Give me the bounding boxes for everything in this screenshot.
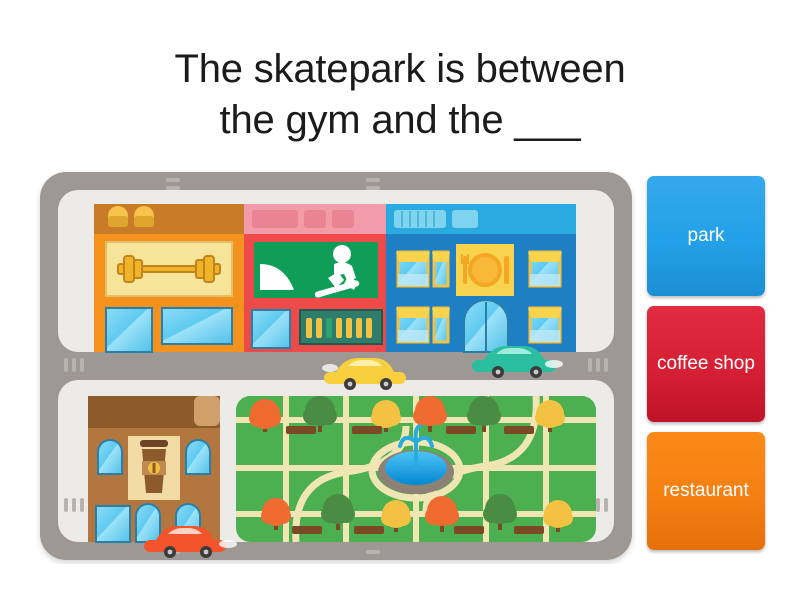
answer-label: restaurant	[663, 480, 749, 502]
question-prompt: The skatepark is between the gym and the…	[60, 44, 740, 146]
gym-building	[94, 204, 244, 352]
answer-label: park	[688, 225, 725, 247]
city-map-illustration	[36, 168, 636, 564]
answer-option-park[interactable]: park	[647, 176, 765, 296]
answer-option-coffee-shop[interactable]: coffee shop	[647, 306, 765, 422]
question-line-2: the gym and the ___	[60, 95, 740, 146]
park-area	[236, 396, 596, 542]
answer-option-restaurant[interactable]: restaurant	[647, 432, 765, 550]
question-line-1: The skatepark is between	[60, 44, 740, 95]
restaurant-building	[386, 204, 576, 352]
skatepark-building	[244, 204, 386, 352]
answer-label: coffee shop	[657, 353, 755, 375]
quiz-slide: The skatepark is between the gym and the…	[0, 0, 800, 600]
coffee-shop-building	[88, 396, 220, 542]
